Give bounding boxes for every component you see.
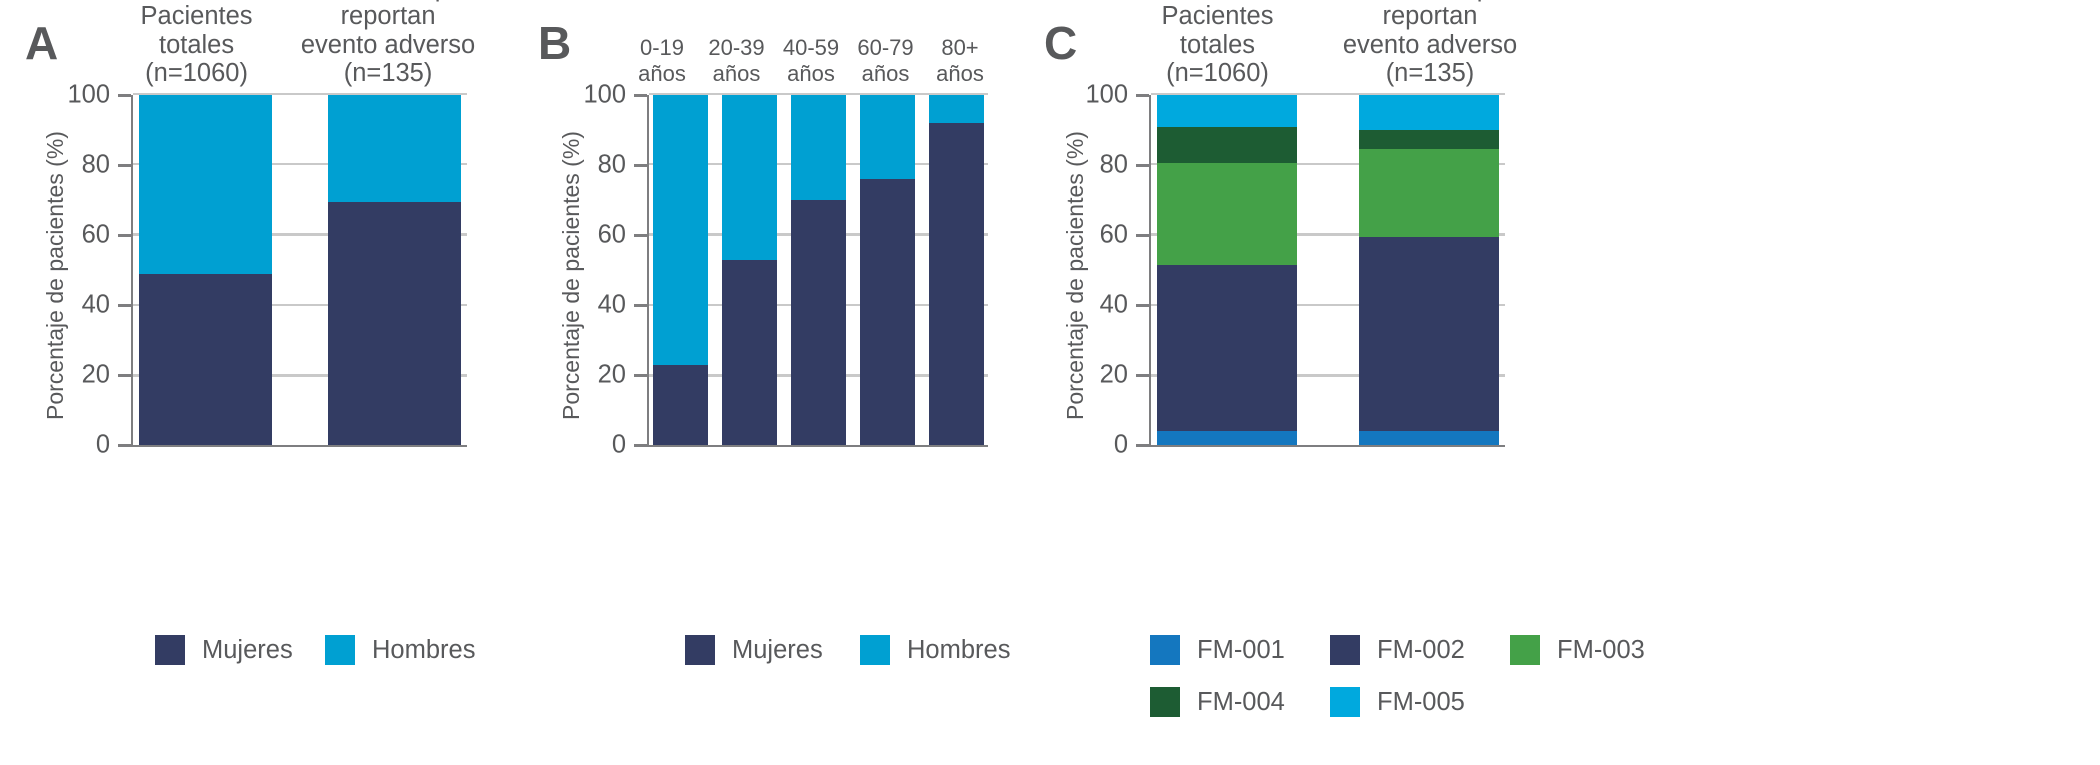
- panel-b-header-4-line-1: años: [925, 61, 995, 86]
- panel-c-letter: C: [1044, 16, 1077, 70]
- legend-swatch-fm005-icon: [1330, 687, 1360, 717]
- panel-a-plot-area: [131, 95, 467, 447]
- panel-b-header-1-line-1: años: [702, 61, 772, 86]
- panel-b-tick-80: 80: [568, 151, 626, 180]
- panel-b-header-4: 80+ años: [925, 35, 995, 86]
- legend-swatch-fm001-icon: [1150, 635, 1180, 665]
- panel-a-tickmark-40: [118, 304, 131, 307]
- panel-b-letter: B: [538, 16, 571, 70]
- panel-a-legend-item-mujeres[interactable]: Mujeres: [155, 635, 325, 665]
- panel-b-legend-item-mujeres[interactable]: Mujeres: [685, 635, 860, 665]
- panel-c-tickmark-100: [1136, 94, 1149, 97]
- panel-b-tick-0: 0: [568, 431, 626, 460]
- panel-b-header-3: 60-79 años: [851, 35, 921, 86]
- panel-c-bar-total-seg-fm001: [1157, 431, 1297, 445]
- panel-a-header-0: Pacientes totales (n=1060): [112, 2, 281, 88]
- panel-c-tick-40: 40: [1070, 291, 1128, 320]
- panel-c-tick-0: 0: [1070, 431, 1128, 460]
- panel-b-bar-20-39: [722, 95, 777, 445]
- panel-b-tick-60: 60: [568, 221, 626, 250]
- panel-a-bar-adverse-seg-hombres: [328, 95, 461, 202]
- panel-c-bar-adverse-seg-fm004: [1359, 130, 1499, 149]
- panel-b-bar-0-19: [653, 95, 708, 445]
- panel-b-tickmark-0: [634, 444, 647, 447]
- panel-a-bar-total-seg-mujeres: [139, 274, 272, 446]
- panel-a-bar-adverse: [328, 95, 461, 445]
- panel-a-tickmark-60: [118, 234, 131, 237]
- legend-swatch-hombres-icon: [860, 635, 890, 665]
- panel-a-header-1-line-1: evento adverso (n=135): [281, 31, 495, 88]
- panel-b-tickmark-60: [634, 234, 647, 237]
- panel-a-column-headers: Pacientes totales (n=1060) Pacientes que…: [112, 24, 467, 88]
- panel-c-tick-60: 60: [1070, 221, 1128, 250]
- panel-c: C Pacientes totales (n=1060) Pacientes q…: [1030, 0, 2100, 765]
- panel-b-column-headers: 0-19 años 20-39 años 40-59 años 60-79 añ…: [627, 28, 995, 86]
- panel-b-header-1: 20-39 años: [702, 35, 772, 86]
- panel-a-legend: Mujeres Hombres: [155, 635, 485, 665]
- panel-c-bar-total-seg-fm003: [1157, 163, 1297, 265]
- panel-c-tickmark-0: [1136, 444, 1149, 447]
- panel-c-legend-label-2: FM-003: [1557, 636, 1645, 665]
- panel-b-legend-label-0: Mujeres: [732, 636, 823, 665]
- panel-b-header-4-line-0: 80+: [925, 35, 995, 60]
- panel-b-tickmark-80: [634, 164, 647, 167]
- panel-a-legend-label-1: Hombres: [372, 636, 475, 665]
- panel-c-legend: FM-001 FM-002 FM-003 FM-004 FM-005: [1150, 635, 1680, 717]
- panel-b-bar-0-19-seg-hombres: [653, 95, 708, 365]
- panel-b-bar-40-59-seg-mujeres: [791, 200, 846, 445]
- panel-c-legend-label-0: FM-001: [1197, 636, 1285, 665]
- panel-c-bar-adverse: [1359, 95, 1499, 445]
- panel-b-bar-60-79-seg-hombres: [860, 95, 915, 179]
- panel-b-bar-40-59: [791, 95, 846, 445]
- panel-b-bar-40-59-seg-hombres: [791, 95, 846, 200]
- legend-swatch-fm002-icon: [1330, 635, 1360, 665]
- panel-c-bar-total-seg-fm004: [1157, 127, 1297, 164]
- panel-a-tick-40: 40: [52, 291, 110, 320]
- panel-c-legend-label-3: FM-004: [1197, 688, 1285, 717]
- panel-b-header-3-line-1: años: [851, 61, 921, 86]
- panel-b-tick-40: 40: [568, 291, 626, 320]
- panel-c-tick-80: 80: [1070, 151, 1128, 180]
- panel-c-legend-item-fm004[interactable]: FM-004: [1150, 687, 1330, 717]
- panel-c-legend-item-fm001[interactable]: FM-001: [1150, 635, 1330, 665]
- panel-c-bar-total: [1157, 95, 1297, 445]
- panel-c-header-0-line-1: (n=1060): [1130, 59, 1305, 88]
- panel-a: A Pacientes totales (n=1060) Pacientes q…: [0, 0, 520, 765]
- panel-b-plot-area: [647, 95, 988, 447]
- panel-a-tick-0: 0: [52, 431, 110, 460]
- panel-b-header-2-line-0: 40-59: [776, 35, 846, 60]
- panel-a-bars: [133, 95, 467, 445]
- panel-b-legend: Mujeres Hombres: [685, 635, 1025, 665]
- panel-a-bar-adverse-seg-mujeres: [328, 202, 461, 445]
- panel-b-bar-0-19-seg-mujeres: [653, 365, 708, 446]
- legend-swatch-fm004-icon: [1150, 687, 1180, 717]
- panel-c-tickmark-20: [1136, 374, 1149, 377]
- panel-a-tick-20: 20: [52, 361, 110, 390]
- panel-a-tickmark-20: [118, 374, 131, 377]
- panel-a-header-0-line-1: (n=1060): [112, 59, 281, 88]
- panel-c-tick-100: 100: [1070, 81, 1128, 110]
- panel-a-header-1-line-0: Pacientes que reportan: [281, 0, 495, 31]
- legend-swatch-hombres-icon: [325, 635, 355, 665]
- panel-b-legend-label-1: Hombres: [907, 636, 1010, 665]
- panel-a-legend-label-0: Mujeres: [202, 636, 293, 665]
- panel-b-header-2: 40-59 años: [776, 35, 846, 86]
- panel-c-header-0: Pacientes totales (n=1060): [1130, 2, 1305, 88]
- panel-c-header-1: Pacientes que reportan evento adverso (n…: [1310, 0, 1550, 88]
- panel-c-legend-item-fm005[interactable]: FM-005: [1330, 687, 1510, 717]
- panel-a-tick-60: 60: [52, 221, 110, 250]
- panel-c-bar-adverse-seg-fm003: [1359, 149, 1499, 237]
- panel-a-bar-total-seg-hombres: [139, 95, 272, 274]
- panel-c-bar-adverse-seg-fm005: [1359, 95, 1499, 130]
- panel-a-tickmark-0: [118, 444, 131, 447]
- panel-c-bar-total-seg-fm005: [1157, 95, 1297, 127]
- legend-swatch-mujeres-icon: [155, 635, 185, 665]
- panel-a-header-1: Pacientes que reportan evento adverso (n…: [281, 0, 495, 88]
- panel-c-header-1-line-1: evento adverso (n=135): [1310, 31, 1550, 88]
- panel-b-bar-80plus: [929, 95, 984, 445]
- panel-b-tick-20: 20: [568, 361, 626, 390]
- panel-c-header-1-line-0: Pacientes que reportan: [1310, 0, 1550, 31]
- panel-a-tickmark-100: [118, 94, 131, 97]
- legend-swatch-fm003-icon: [1510, 635, 1540, 665]
- panel-c-bars: [1151, 95, 1505, 445]
- panel-b-header-2-line-1: años: [776, 61, 846, 86]
- panel-b-header-0-line-1: años: [627, 61, 697, 86]
- panel-b-bar-60-79: [860, 95, 915, 445]
- panel-c-bar-adverse-seg-fm001: [1359, 431, 1499, 445]
- panel-a-legend-item-hombres[interactable]: Hombres: [325, 635, 485, 665]
- panel-c-column-headers: Pacientes totales (n=1060) Pacientes que…: [1130, 24, 1520, 88]
- panel-b-legend-item-hombres[interactable]: Hombres: [860, 635, 1020, 665]
- panel-b-tickmark-100: [634, 94, 647, 97]
- panel-b-bar-80plus-seg-hombres: [929, 95, 984, 123]
- panel-b-bars: [649, 95, 988, 445]
- panel-b-bar-80plus-seg-mujeres: [929, 123, 984, 445]
- panel-c-bar-adverse-seg-fm002: [1359, 237, 1499, 431]
- panel-b: B 0-19 años 20-39 años 40-59 años 60-79 …: [520, 0, 1030, 765]
- panel-c-tick-20: 20: [1070, 361, 1128, 390]
- panel-b-bar-20-39-seg-hombres: [722, 95, 777, 260]
- panel-b-header-1-line-0: 20-39: [702, 35, 772, 60]
- panel-c-header-0-line-0: Pacientes totales: [1130, 2, 1305, 59]
- panel-c-legend-item-fm002[interactable]: FM-002: [1330, 635, 1510, 665]
- panel-b-header-0-line-0: 0-19: [627, 35, 697, 60]
- panel-b-header-0: 0-19 años: [627, 35, 697, 86]
- figure-root: A Pacientes totales (n=1060) Pacientes q…: [0, 0, 2100, 765]
- panel-c-legend-label-1: FM-002: [1377, 636, 1465, 665]
- panel-b-tick-100: 100: [568, 81, 626, 110]
- panel-c-tickmark-40: [1136, 304, 1149, 307]
- panel-c-legend-label-4: FM-005: [1377, 688, 1465, 717]
- panel-a-tick-100: 100: [52, 81, 110, 110]
- panel-b-bar-60-79-seg-mujeres: [860, 179, 915, 445]
- panel-c-legend-item-fm003[interactable]: FM-003: [1510, 635, 1680, 665]
- panel-c-tickmark-60: [1136, 234, 1149, 237]
- panel-b-header-3-line-0: 60-79: [851, 35, 921, 60]
- panel-a-letter: A: [25, 16, 58, 70]
- panel-c-plot-area: [1149, 95, 1505, 447]
- panel-a-tick-80: 80: [52, 151, 110, 180]
- panel-b-tickmark-20: [634, 374, 647, 377]
- panel-c-tickmark-80: [1136, 164, 1149, 167]
- panel-a-header-0-line-0: Pacientes totales: [112, 2, 281, 59]
- panel-a-bar-total: [139, 95, 272, 445]
- panel-b-bar-20-39-seg-mujeres: [722, 260, 777, 446]
- panel-a-tickmark-80: [118, 164, 131, 167]
- panel-b-tickmark-40: [634, 304, 647, 307]
- panel-c-bar-total-seg-fm002: [1157, 265, 1297, 431]
- legend-swatch-mujeres-icon: [685, 635, 715, 665]
